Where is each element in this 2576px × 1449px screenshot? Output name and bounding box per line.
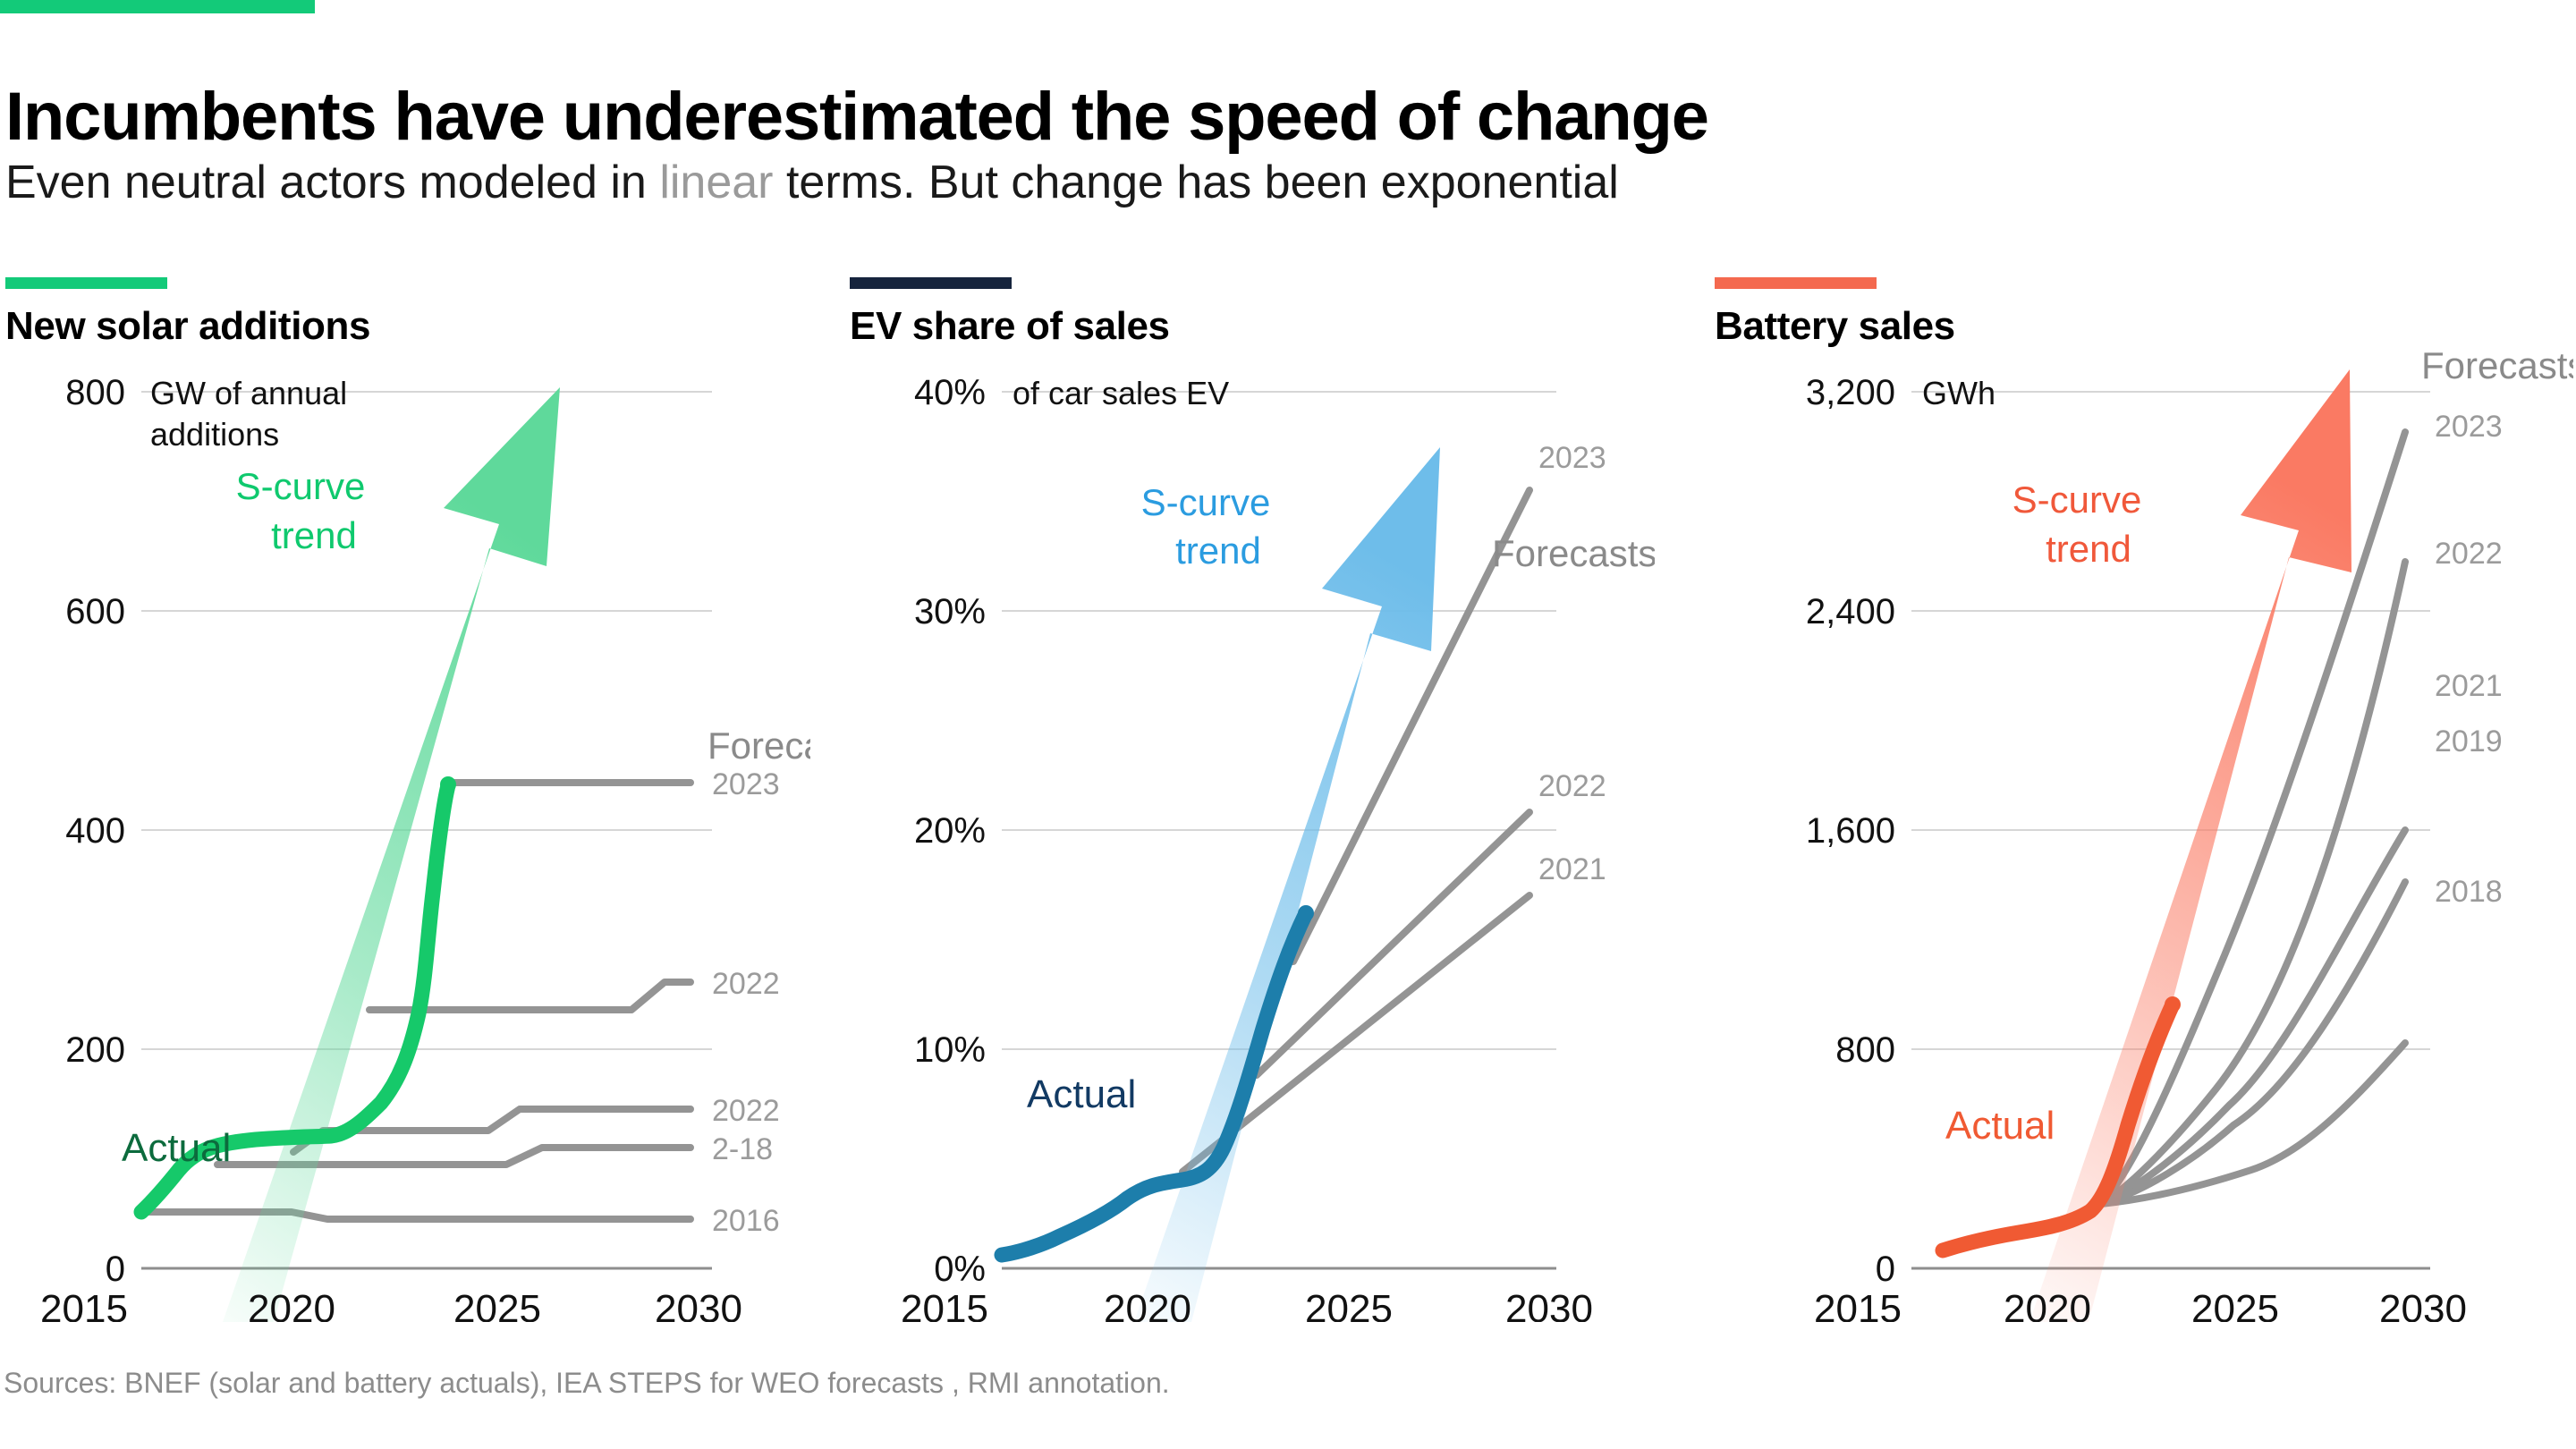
forecast-label-2021-battery: 2021 [2435, 669, 2503, 703]
page-subtitle: Even neutral actors modeled in linear te… [5, 159, 2420, 206]
forecast-label-2022-lower: 2022 [712, 1094, 780, 1128]
chart-panel-solar: New solar additions 800 600 400 200 0 [5, 268, 810, 1324]
y-axis-unit-battery: GWh [1922, 375, 1996, 411]
x-tick-label: 2015 [40, 1287, 128, 1322]
forecast-label-2019-battery: 2019 [2435, 724, 2503, 758]
subtitle-linear-word: linear [659, 157, 773, 208]
y-tick-label: 600 [65, 592, 125, 631]
forecast-label-2021-ev: 2021 [1538, 852, 1606, 886]
y-tick-label: 10% [914, 1030, 986, 1070]
actual-endpoint-battery [2165, 996, 2181, 1013]
y-tick-label: 2,400 [1806, 592, 1895, 631]
s-curve-label-line2-ev: trend [1175, 530, 1261, 572]
x-tick-label: 2025 [2191, 1287, 2279, 1322]
forecast-label-2-18: 2-18 [712, 1132, 773, 1166]
y-tick-label: 0 [1876, 1250, 1895, 1289]
actual-label-solar: Actual [122, 1126, 231, 1170]
y-tick-label: 0 [106, 1250, 125, 1289]
s-curve-label-line2-solar: trend [271, 514, 357, 556]
forecast-label-2023: 2023 [712, 767, 780, 801]
y-axis-unit-ev: of car sales EV [1013, 375, 1229, 411]
chart-panel-ev: EV share of sales 40% 30% 20% 10% 0% of … [850, 268, 1655, 1324]
y-axis-labels-ev: 40% 30% 20% 10% 0% [914, 373, 986, 1289]
y-axis-unit-line1: GW of annual [150, 375, 347, 411]
y-tick-label: 800 [1835, 1030, 1895, 1070]
forecasts-heading-ev: Forecasts [1492, 532, 1655, 574]
y-tick-label: 40% [914, 373, 986, 412]
actual-label-battery: Actual [1945, 1104, 2055, 1148]
y-tick-label: 800 [65, 373, 125, 412]
x-tick-label: 2030 [1505, 1287, 1593, 1322]
forecast-label-2022-upper: 2022 [712, 967, 780, 1001]
x-tick-label: 2020 [2004, 1287, 2091, 1322]
panel-accent-bar-ev [850, 277, 1012, 289]
s-curve-label-line1-ev: S-curve [1141, 481, 1271, 523]
chart-svg-solar: 800 600 400 200 0 GW of annual additions… [5, 338, 810, 1322]
s-curve-arrow-ev [1134, 447, 1440, 1322]
x-tick-label: 2015 [1814, 1287, 1902, 1322]
x-tick-label: 2020 [248, 1287, 335, 1322]
x-tick-label: 2030 [2379, 1287, 2467, 1322]
y-axis-unit-line2: additions [150, 416, 279, 453]
x-tick-label: 2025 [453, 1287, 541, 1322]
x-axis-labels-ev: 2015 2020 2025 2030 [901, 1287, 1593, 1322]
forecast-label-2022-battery: 2022 [2435, 537, 2503, 571]
y-tick-label: 0% [934, 1250, 986, 1289]
y-axis-labels-battery: 3,200 2,400 1,600 800 0 [1806, 373, 1895, 1289]
page-title: Incumbents have underestimated the speed… [5, 83, 2420, 151]
actual-endpoint-solar [440, 776, 456, 792]
x-axis-labels-solar: 2015 2020 2025 2030 [40, 1287, 742, 1322]
forecasts-heading-solar: Forecasts [708, 724, 810, 767]
sources-note: Sources: BNEF (solar and battery actuals… [4, 1367, 1170, 1400]
chart-svg-ev: 40% 30% 20% 10% 0% of car sales EV Forec… [850, 338, 1655, 1322]
y-tick-label: 20% [914, 811, 986, 851]
s-curve-label-line1-battery: S-curve [2012, 479, 2142, 521]
s-curve-label-line2-battery: trend [2046, 528, 2131, 570]
y-tick-label: 200 [65, 1030, 125, 1070]
y-tick-label: 400 [65, 811, 125, 851]
y-tick-label: 30% [914, 592, 986, 631]
actual-endpoint-ev [1298, 905, 1314, 921]
forecast-label-2016: 2016 [712, 1204, 780, 1238]
forecast-label-2022-ev: 2022 [1538, 769, 1606, 803]
s-curve-label-line1-solar: S-curve [236, 465, 366, 507]
y-tick-label: 3,200 [1806, 373, 1895, 412]
y-axis-labels-solar: 800 600 400 200 0 [65, 373, 125, 1289]
actual-label-ev: Actual [1027, 1072, 1136, 1116]
panel-accent-bar-solar [5, 277, 167, 289]
forecast-label-2018-battery: 2018 [2435, 875, 2503, 909]
subtitle-part-1: Even neutral actors modeled in [5, 157, 659, 208]
subtitle-part-2: terms. But change has been exponential [774, 157, 1619, 208]
chart-panel-battery: Battery sales 3,200 2,400 1,600 800 0 GW… [1715, 268, 2573, 1324]
x-tick-label: 2020 [1104, 1287, 1191, 1322]
top-accent-bar [0, 0, 315, 13]
chart-svg-battery: 3,200 2,400 1,600 800 0 GWh Forecasts 20… [1715, 338, 2573, 1322]
forecast-label-2023-ev: 2023 [1538, 441, 1606, 475]
forecast-label-2023-battery: 2023 [2435, 410, 2503, 444]
x-axis-labels-battery: 2015 2020 2025 2030 [1814, 1287, 2467, 1322]
x-tick-label: 2025 [1305, 1287, 1393, 1322]
y-tick-label: 1,600 [1806, 811, 1895, 851]
forecasts-heading-battery: Forecasts [2421, 344, 2573, 386]
x-tick-label: 2030 [655, 1287, 742, 1322]
panel-accent-bar-battery [1715, 277, 1877, 289]
x-tick-label: 2015 [901, 1287, 988, 1322]
gridlines-ev [1002, 392, 1556, 1268]
